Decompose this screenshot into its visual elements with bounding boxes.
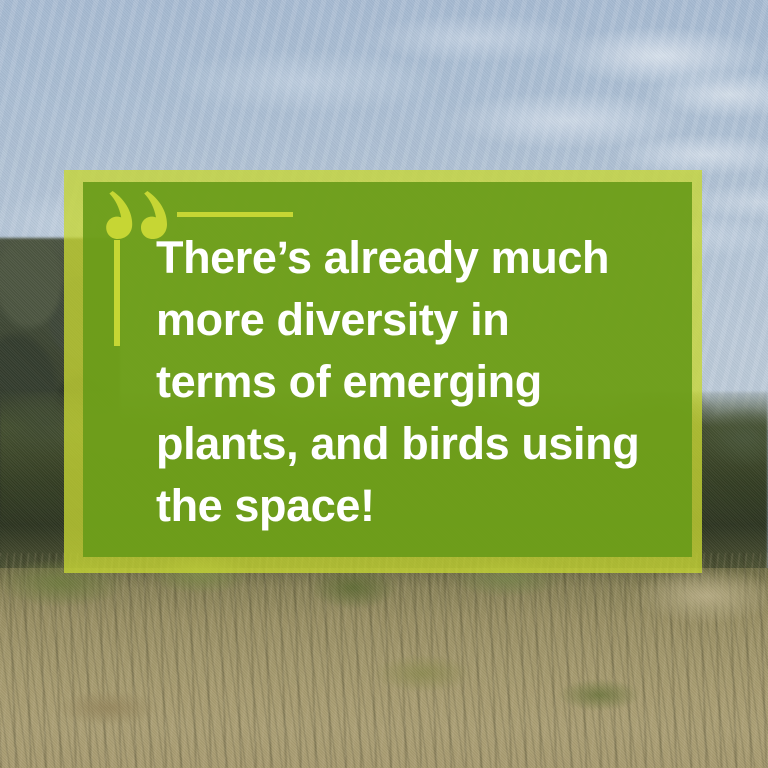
quote-text: There’s already much more diversity in t… <box>156 227 674 537</box>
decorative-horizontal-rule <box>177 212 293 217</box>
decorative-vertical-rule <box>114 240 120 346</box>
screenshot-canvas: There’s already much more diversity in t… <box>0 0 768 768</box>
quote-line: more diversity in <box>156 289 674 351</box>
quote-line: There’s already much <box>156 227 674 289</box>
field-grass-texture <box>0 553 768 768</box>
quote-line: the space! <box>156 475 674 537</box>
quote-line: plants, and birds using <box>156 413 674 475</box>
quote-line: terms of emerging <box>156 351 674 413</box>
quote-card-panel: There’s already much more diversity in t… <box>83 182 692 557</box>
